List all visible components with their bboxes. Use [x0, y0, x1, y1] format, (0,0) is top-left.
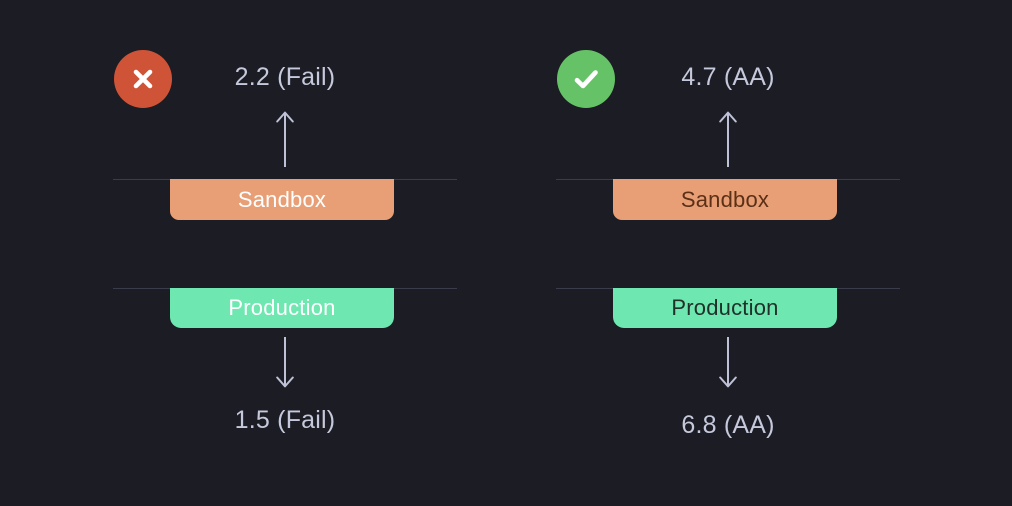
swatch-sandbox: Sandbox: [613, 179, 837, 220]
sandbox-swatch-row: Sandbox: [113, 179, 457, 227]
comparison-panel-pass: 4.7 (AA) Sandbox Production 6: [556, 0, 998, 506]
swatch-label: Sandbox: [681, 187, 769, 213]
contrast-ratio-sandbox: 4.7 (AA): [556, 63, 900, 92]
sandbox-swatch-row: Sandbox: [556, 179, 900, 227]
comparison-panel-fail: 2.2 (Fail) Sandbox Production: [113, 0, 555, 506]
contrast-ratio-sandbox: 2.2 (Fail): [113, 63, 457, 92]
contrast-ratio-production: 6.8 (AA): [556, 411, 900, 440]
arrow-up-icon: [113, 110, 457, 168]
contrast-ratio-production: 1.5 (Fail): [113, 406, 457, 435]
arrow-down-icon: [556, 337, 900, 389]
production-swatch-row: Production: [556, 288, 900, 336]
swatch-production: Production: [613, 288, 837, 328]
swatch-label: Sandbox: [238, 187, 326, 213]
arrow-up-icon: [556, 110, 900, 168]
arrow-down-icon: [113, 337, 457, 389]
swatch-label: Production: [228, 295, 335, 321]
swatch-label: Production: [671, 295, 778, 321]
contrast-comparison-canvas: 2.2 (Fail) Sandbox Production: [0, 0, 1012, 506]
swatch-production: Production: [170, 288, 394, 328]
swatch-sandbox: Sandbox: [170, 179, 394, 220]
production-swatch-row: Production: [113, 288, 457, 336]
